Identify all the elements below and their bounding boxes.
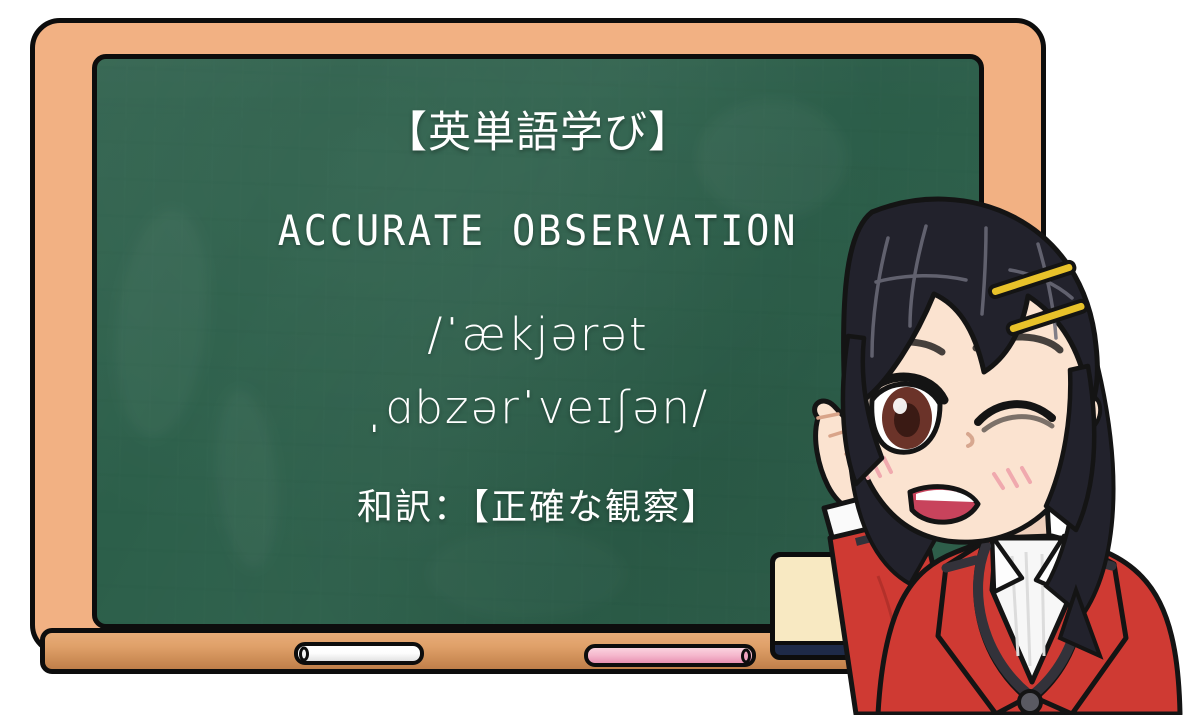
blazer-button [1019, 691, 1041, 713]
anime-teacher-character [760, 186, 1200, 715]
white-chalk-stick [294, 642, 424, 665]
chalk-end-cap [741, 648, 751, 663]
chalk-smudge [209, 387, 284, 572]
flashcard-canvas: 【英単語学び】 ACCURATE OBSERVATION /ˈækjərət ˌ… [0, 0, 1200, 715]
chalk-smudge [105, 205, 219, 443]
chalk-end-cap [299, 646, 309, 661]
chalk-smudge [427, 529, 627, 619]
pink-chalk-stick [584, 644, 756, 667]
